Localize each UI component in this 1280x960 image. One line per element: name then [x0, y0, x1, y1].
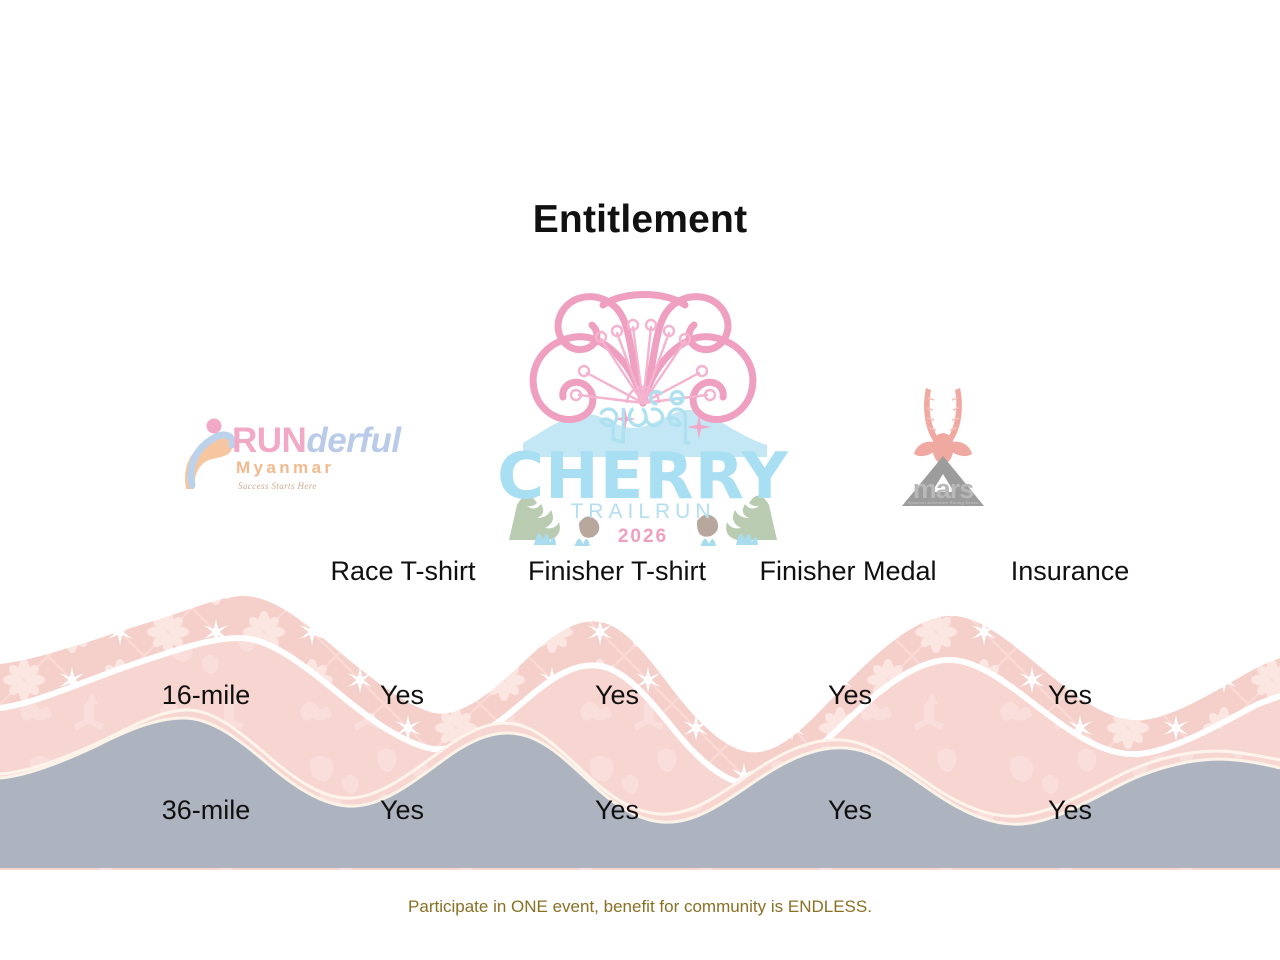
column-header-race-tshirt: Race T-shirt — [318, 556, 488, 587]
footer-note: Participate in ONE event, benefit for co… — [0, 897, 1280, 917]
cell-36-mile-race-tshirt: Yes — [328, 795, 476, 826]
cell-36-mile-insurance: Yes — [996, 795, 1144, 826]
cell-36-mile-finisher-medal: Yes — [776, 795, 924, 826]
row-label-16-mile: 16-mile — [130, 680, 282, 711]
column-header-finisher-tshirt: Finisher T-shirt — [506, 556, 728, 587]
slide-canvas: Entitlement RUNderful Myanmar Success St… — [0, 0, 1280, 960]
entitlement-table: Race T-shirt Finisher T-shirt Finisher M… — [0, 0, 1280, 960]
column-header-insurance: Insurance — [996, 556, 1144, 587]
cell-16-mile-insurance: Yes — [996, 680, 1144, 711]
cell-36-mile-finisher-tshirt: Yes — [543, 795, 691, 826]
cell-16-mile-race-tshirt: Yes — [328, 680, 476, 711]
cell-16-mile-finisher-medal: Yes — [776, 680, 924, 711]
column-header-finisher-medal: Finisher Medal — [742, 556, 954, 587]
cell-16-mile-finisher-tshirt: Yes — [543, 680, 691, 711]
row-label-36-mile: 36-mile — [130, 795, 282, 826]
